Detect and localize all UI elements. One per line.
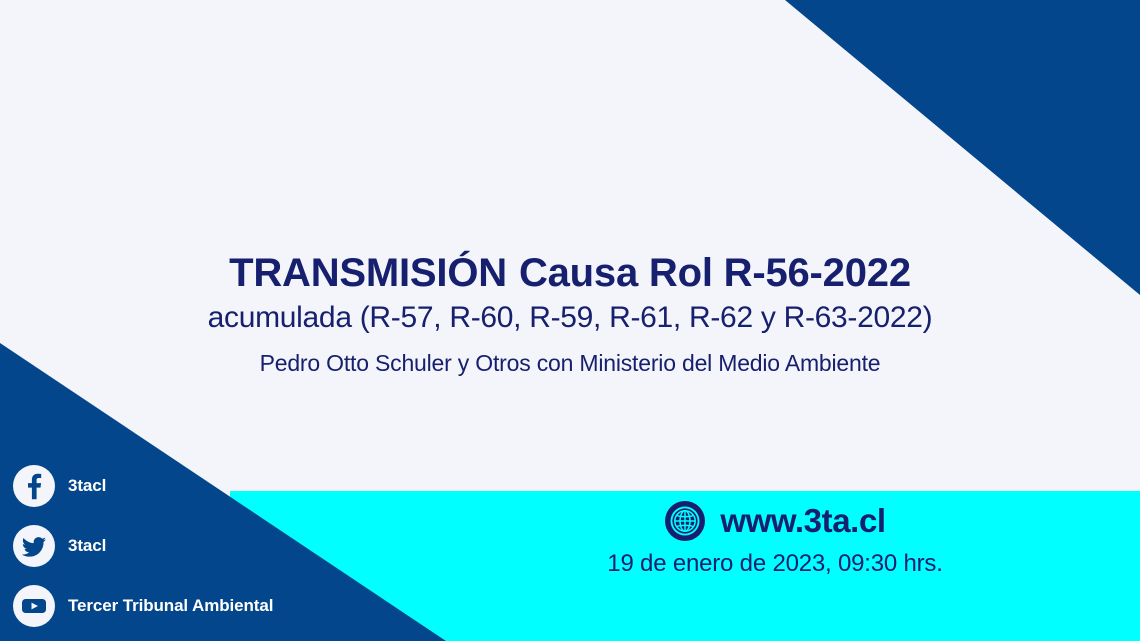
social-item-facebook[interactable]: 3tacl xyxy=(12,462,273,510)
social-item-youtube[interactable]: Tercer Tribunal Ambiental xyxy=(12,582,273,630)
title-transmision-word: TRANSMISIÓN xyxy=(229,251,507,295)
website-url[interactable]: www.3ta.cl xyxy=(720,502,885,540)
globe-icon xyxy=(664,500,706,542)
social-links-list: 3tacl 3tacl Tercer Tribunal Ambiental xyxy=(12,462,273,630)
website-block: www.3ta.cl 19 de enero de 2023, 09:30 hr… xyxy=(560,500,990,578)
youtube-icon xyxy=(12,584,56,628)
website-row[interactable]: www.3ta.cl xyxy=(560,500,990,542)
title-accumulated-cases: acumulada (R-57, R-60, R-59, R-61, R-62 … xyxy=(0,302,1140,334)
twitter-icon xyxy=(12,524,56,568)
title-main-line: TRANSMISIÓNCausa Rol R-56-2022 xyxy=(0,252,1140,294)
social-label-facebook: 3tacl xyxy=(68,476,106,496)
facebook-icon xyxy=(12,464,56,508)
social-label-twitter: 3tacl xyxy=(68,536,106,556)
title-case-number: Causa Rol R-56-2022 xyxy=(519,251,911,295)
social-label-youtube: Tercer Tribunal Ambiental xyxy=(68,596,273,616)
social-item-twitter[interactable]: 3tacl xyxy=(12,522,273,570)
title-block: TRANSMISIÓNCausa Rol R-56-2022 acumulada… xyxy=(0,252,1140,375)
broadcast-title-card: TRANSMISIÓNCausa Rol R-56-2022 acumulada… xyxy=(0,0,1140,641)
hearing-datetime: 19 de enero de 2023, 09:30 hrs. xyxy=(560,550,990,578)
title-parties: Pedro Otto Schuler y Otros con Ministeri… xyxy=(0,351,1140,375)
